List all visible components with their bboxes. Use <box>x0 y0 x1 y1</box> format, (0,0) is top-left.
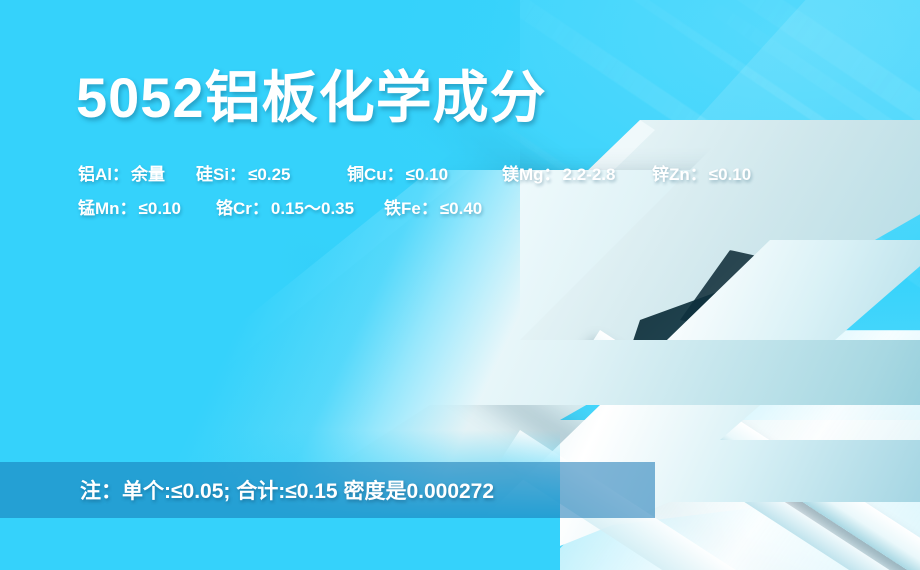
composition-item-cu: 铜Cu：≤0.10 <box>347 160 502 185</box>
composition-row: 锰Mn：≤0.10 铬Cr：0.15～0.35 铁Fe：≤0.40 <box>78 194 868 219</box>
composition-label: 锌Zn： <box>652 160 707 185</box>
note-bar: 注：单个:≤0.05; 合计:≤0.15 密度是0.000272 <box>0 462 655 518</box>
composition-item-si: 硅Si：≤0.25 <box>196 160 347 185</box>
composition-label: 铜Cu： <box>347 160 404 185</box>
composition-label: 镁Mg： <box>502 160 561 185</box>
composition-row: 铝Al：余量 硅Si：≤0.25 铜Cu：≤0.10 镁Mg：2.2-2.8 锌… <box>78 160 868 185</box>
composition-value: ≤0.40 <box>440 199 482 219</box>
composition-value: ≤0.10 <box>709 165 751 185</box>
composition-value: 2.2-2.8 <box>563 165 616 185</box>
composition-item-zn: 锌Zn：≤0.10 <box>652 160 751 185</box>
page-title: 5052铝板化学成分 <box>76 68 547 128</box>
aluminum-spec-banner: 5052铝板化学成分 铝Al：余量 硅Si：≤0.25 铜Cu：≤0.10 镁M… <box>0 0 920 570</box>
composition-value: 余量 <box>131 160 165 185</box>
composition-value: ≤0.25 <box>248 165 290 185</box>
composition-label: 铬Cr： <box>216 194 269 219</box>
note-text: 注：单个:≤0.05; 合计:≤0.15 密度是0.000272 <box>80 475 494 505</box>
composition-value: ≤0.10 <box>139 199 181 219</box>
composition-item-cr: 铬Cr：0.15～0.35 <box>216 194 384 219</box>
composition-item-al: 铝Al：余量 <box>78 160 196 185</box>
composition-list: 铝Al：余量 硅Si：≤0.25 铜Cu：≤0.10 镁Mg：2.2-2.8 锌… <box>78 160 868 228</box>
composition-label: 铝Al： <box>78 160 129 185</box>
composition-label: 铁Fe： <box>384 194 438 219</box>
composition-label: 硅Si： <box>196 160 246 185</box>
composition-label: 锰Mn： <box>78 194 137 219</box>
composition-item-mg: 镁Mg：2.2-2.8 <box>502 160 652 185</box>
composition-value: ≤0.10 <box>406 165 448 185</box>
banner-content: 5052铝板化学成分 铝Al：余量 硅Si：≤0.25 铜Cu：≤0.10 镁M… <box>0 0 920 570</box>
composition-value: 0.15～0.35 <box>271 194 354 219</box>
composition-item-fe: 铁Fe：≤0.40 <box>384 194 482 219</box>
composition-item-mn: 锰Mn：≤0.10 <box>78 194 216 219</box>
